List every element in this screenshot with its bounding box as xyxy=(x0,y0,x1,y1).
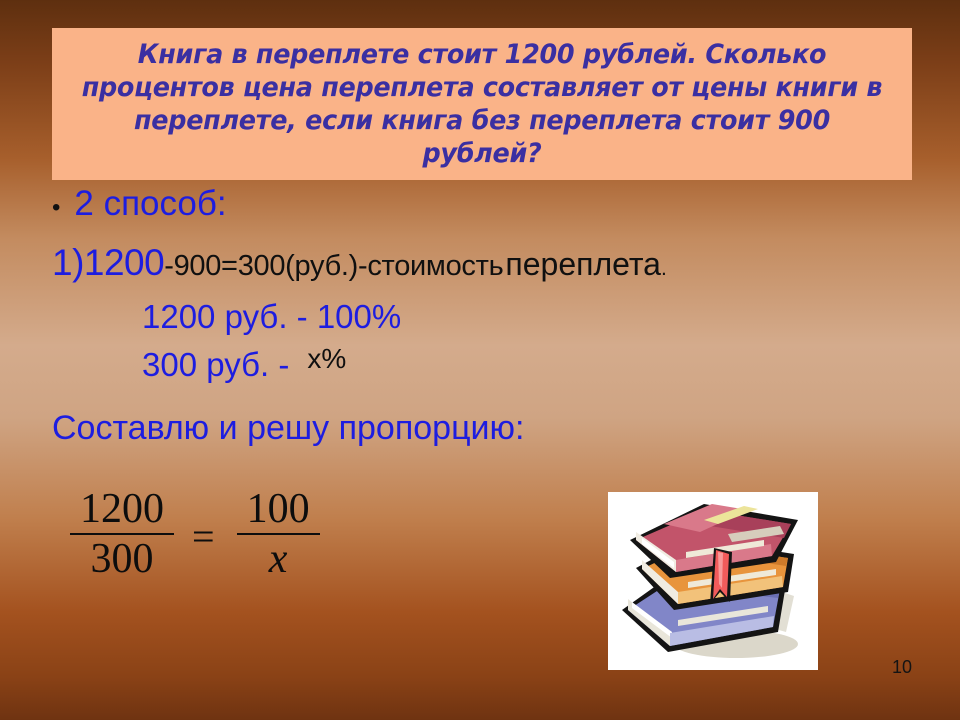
step-one-equation: -900=300(руб.)-стоимость xyxy=(164,250,503,283)
step-one-tail: переплета xyxy=(505,246,661,283)
fraction-right-denominator: x xyxy=(259,535,298,581)
step-one-period: . xyxy=(661,257,667,281)
stack-of-books-image xyxy=(608,492,818,670)
step-one-prefix: 1)1200 xyxy=(52,242,164,284)
proportion-equation: 1200 300 = 100 x xyxy=(70,487,320,581)
equals-sign: = xyxy=(192,513,215,560)
bullet-icon: • xyxy=(52,186,60,230)
title-text: Книга в переплете стоит 1200 рублей. Ско… xyxy=(69,38,895,170)
fraction-left-denominator: 300 xyxy=(81,535,164,581)
body-content: • 2 способ: 1)1200 -900=300(руб.)-стоимо… xyxy=(0,182,960,450)
fraction-left-numerator: 1200 xyxy=(70,487,174,533)
method-heading: • 2 способ: xyxy=(52,182,960,230)
proportion-row-two: 300 руб. - х% xyxy=(142,344,960,388)
fraction-right: 100 x xyxy=(237,487,320,581)
books-illustration-svg xyxy=(608,492,818,670)
fraction-right-numerator: 100 xyxy=(237,487,320,533)
fraction-left: 1200 300 xyxy=(70,487,174,581)
solve-label: Составлю и решу пропорцию: xyxy=(52,406,960,450)
title-box: Книга в переплете стоит 1200 рублей. Ско… xyxy=(52,28,912,180)
proportion-row-two-left: 300 руб. - xyxy=(142,344,289,386)
slide-canvas: Книга в переплете стоит 1200 рублей. Ско… xyxy=(0,0,960,720)
proportion-row-one: 1200 руб. - 100% xyxy=(142,296,960,338)
method-label: 2 способ: xyxy=(74,182,226,226)
page-number: 10 xyxy=(892,657,912,678)
proportion-unknown-value: х% xyxy=(307,338,346,380)
step-one-line: 1)1200 -900=300(руб.)-стоимость переплет… xyxy=(52,242,960,284)
